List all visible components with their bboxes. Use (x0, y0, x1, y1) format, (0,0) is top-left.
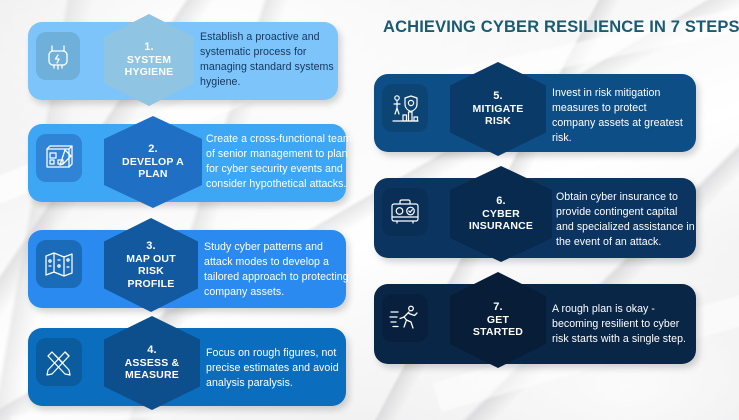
step-card-4[interactable]: 4. ASSESS & MEASURE Focus on rough figur… (28, 316, 368, 410)
step-title-line2-4: MEASURE (125, 369, 179, 381)
step-title-line1-5: MITIGATE (473, 103, 524, 115)
step-description-4: Focus on rough figures, not precise esti… (206, 346, 352, 391)
step-card-2[interactable]: 2. DEVELOP A PLAN Create a cross-functio… (28, 116, 368, 208)
map-icon (36, 240, 82, 288)
step-description-2: Create a cross-functional team of senior… (206, 132, 356, 192)
step-description-1: Establish a proactive and systematic pro… (200, 30, 340, 90)
step-number-6: 6. (496, 195, 506, 208)
step-title-line2-2: PLAN (138, 168, 167, 180)
step-title-line2-3: RISK (138, 265, 164, 277)
step-card-6[interactable]: 6. CYBER INSURANCE Obtain cyber insuranc… (374, 166, 718, 262)
step-title-line1-7: GET (487, 314, 509, 326)
infographic-canvas: ACHIEVING CYBER RESILIENCE IN 7 STEPS 1.… (0, 0, 739, 420)
running-person-icon (382, 294, 428, 342)
step-card-1[interactable]: 1. SYSTEM HYGIENE Establish a proactive … (28, 14, 362, 106)
step-title-line2-7: STARTED (473, 326, 523, 338)
risk-shield-chart-icon (382, 84, 428, 132)
step-title-line2-1: HYGIENE (125, 66, 174, 78)
step-number-3: 3. (146, 240, 156, 253)
step-title-line1-1: SYSTEM (127, 54, 171, 66)
plug-icon (36, 32, 80, 80)
step-title-line1-6: CYBER (482, 208, 520, 220)
step-title-line1-4: ASSESS & (125, 357, 180, 369)
step-description-5: Invest in risk mitigation measures to pr… (552, 86, 692, 146)
step-card-7[interactable]: 7. GET STARTED A rough plan is okay - be… (374, 272, 718, 368)
ruler-pencil-icon (36, 338, 82, 386)
step-title-line1-3: MAP OUT (126, 253, 176, 265)
step-title-line2-6: INSURANCE (469, 220, 533, 232)
step-number-4: 4. (147, 344, 157, 357)
step-description-6: Obtain cyber insurance to provide contin… (556, 190, 698, 250)
step-title-line3-3: PROFILE (128, 278, 175, 290)
step-number-5: 5. (493, 90, 503, 103)
blueprint-icon (36, 134, 82, 182)
step-title-line2-5: RISK (485, 115, 511, 127)
step-number-2: 2. (148, 143, 158, 156)
page-title: ACHIEVING CYBER RESILIENCE IN 7 STEPS (383, 18, 723, 36)
step-card-5[interactable]: 5. MITIGATE RISK Invest in risk mitigati… (374, 62, 718, 156)
step-description-3: Study cyber patterns and attack modes to… (204, 240, 350, 300)
step-number-7: 7. (493, 301, 503, 314)
step-title-line1-2: DEVELOP A (122, 156, 184, 168)
step-number-1: 1. (144, 41, 154, 54)
step-card-3[interactable]: 3. MAP OUT RISK PROFILE Study cyber patt… (28, 218, 368, 312)
insurance-briefcase-icon (382, 188, 428, 236)
step-description-7: A rough plan is okay - becoming resilien… (552, 302, 698, 347)
